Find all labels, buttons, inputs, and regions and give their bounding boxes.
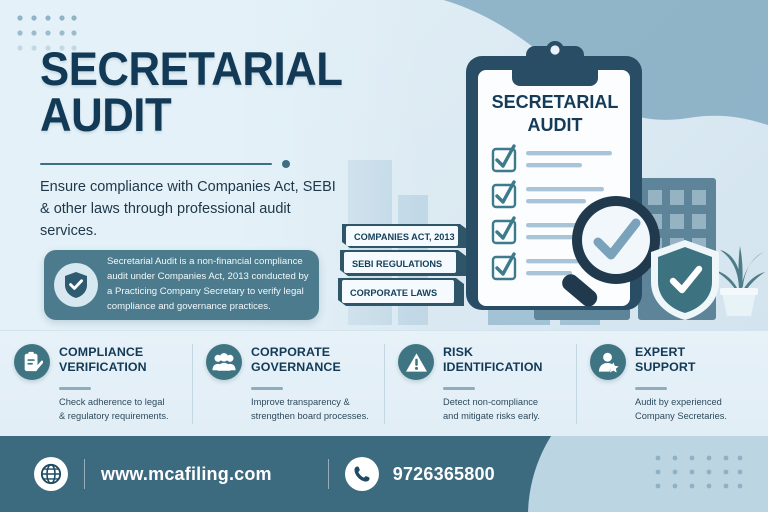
svg-text:CORPORATE LAWS: CORPORATE LAWS	[350, 288, 437, 298]
clipboard-check-icon	[14, 344, 50, 380]
feature-title-line-2: SUPPORT	[635, 360, 696, 374]
feature-desc-line-1: Detect non-compliance	[443, 397, 538, 407]
person-star-icon	[590, 344, 626, 380]
title-divider	[40, 160, 290, 168]
feature-desc-line-2: and mitigate risks early.	[443, 411, 540, 421]
shield-check-badge-icon	[648, 238, 722, 322]
feature-expert-support[interactable]: EXPERT SUPPORT Audit by experienced Comp…	[576, 338, 768, 434]
svg-text:COMPANIES ACT, 2013: COMPANIES ACT, 2013	[354, 232, 455, 242]
phone-icon	[345, 457, 379, 491]
infographic-poster: SECRETARIAL AUDIT Ensure compliance with…	[0, 0, 768, 512]
book-companies-act: COMPANIES ACT, 2013	[342, 224, 468, 248]
feature-underline	[443, 387, 475, 390]
feature-title-line-2: GOVERNANCE	[251, 360, 341, 374]
book-sebi-regulations: SEBI REGULATIONS	[340, 250, 466, 276]
feature-corporate-governance[interactable]: CORPORATE GOVERNANCE Improve transparenc…	[192, 338, 384, 434]
page-title: SECRETARIAL AUDIT	[40, 46, 370, 138]
feature-title-line-1: EXPERT	[635, 345, 685, 359]
feature-underline	[59, 387, 91, 390]
hero-subheading: Ensure compliance with Companies Act, SE…	[40, 176, 340, 243]
title-line-1: SECRETARIAL	[40, 42, 342, 95]
feature-list: COMPLIANCE VERIFICATION Check adherence …	[0, 338, 768, 434]
clipboard-title-line-2: AUDIT	[528, 115, 583, 135]
contact-footer: www.mcafiling.com 9726365800	[0, 436, 768, 512]
feature-compliance-verification[interactable]: COMPLIANCE VERIFICATION Check adherence …	[0, 338, 192, 434]
feature-desc-line-2: & regulatory requirements.	[59, 411, 169, 421]
feature-title-line-1: COMPLIANCE	[59, 345, 143, 359]
feature-desc-line-1: Audit by experienced	[635, 397, 722, 407]
title-line-2: AUDIT	[40, 88, 171, 141]
divider-line	[40, 163, 272, 165]
feature-underline	[251, 387, 283, 390]
feature-title-line-1: RISK	[443, 345, 473, 359]
phone-number[interactable]: 9726365800	[393, 464, 495, 485]
feature-title-line-1: CORPORATE	[251, 345, 330, 359]
warning-triangle-icon	[398, 344, 434, 380]
feature-title-line-2: VERIFICATION	[59, 360, 147, 374]
feature-risk-identification[interactable]: RISK IDENTIFICATION Detect non-complianc…	[384, 338, 576, 434]
feature-description: Detect non-compliance and mitigate risks…	[443, 395, 564, 425]
feature-description: Audit by experienced Company Secretaries…	[635, 395, 756, 425]
globe-icon	[34, 457, 68, 491]
clipboard-title-line-1: SECRETARIAL	[492, 92, 619, 112]
definition-text: Secretarial Audit is a non-financial com…	[107, 255, 309, 314]
shield-check-icon	[54, 263, 98, 307]
features-band-divider	[0, 330, 768, 331]
feature-desc-line-2: Company Secretaries.	[635, 411, 727, 421]
feature-desc-line-2: strengthen board processes.	[251, 411, 369, 421]
feature-title-line-2: IDENTIFICATION	[443, 360, 543, 374]
definition-card: Secretarial Audit is a non-financial com…	[44, 250, 319, 320]
feature-desc-line-1: Improve transparency &	[251, 397, 350, 407]
feature-description: Check adherence to legal & regulatory re…	[59, 395, 180, 425]
feature-underline	[635, 387, 667, 390]
svg-text:SEBI REGULATIONS: SEBI REGULATIONS	[352, 259, 442, 269]
feature-description: Improve transparency & strengthen board …	[251, 395, 372, 425]
dot-grid-decoration-bottom-right	[654, 454, 744, 494]
divider-dot	[282, 160, 290, 168]
book-corporate-laws: CORPORATE LAWS	[338, 278, 464, 306]
footer-separator-1	[84, 459, 85, 489]
feature-desc-line-1: Check adherence to legal	[59, 397, 164, 407]
people-group-icon	[206, 344, 242, 380]
website-link[interactable]: www.mcafiling.com	[101, 464, 272, 485]
footer-separator-2	[328, 459, 329, 489]
